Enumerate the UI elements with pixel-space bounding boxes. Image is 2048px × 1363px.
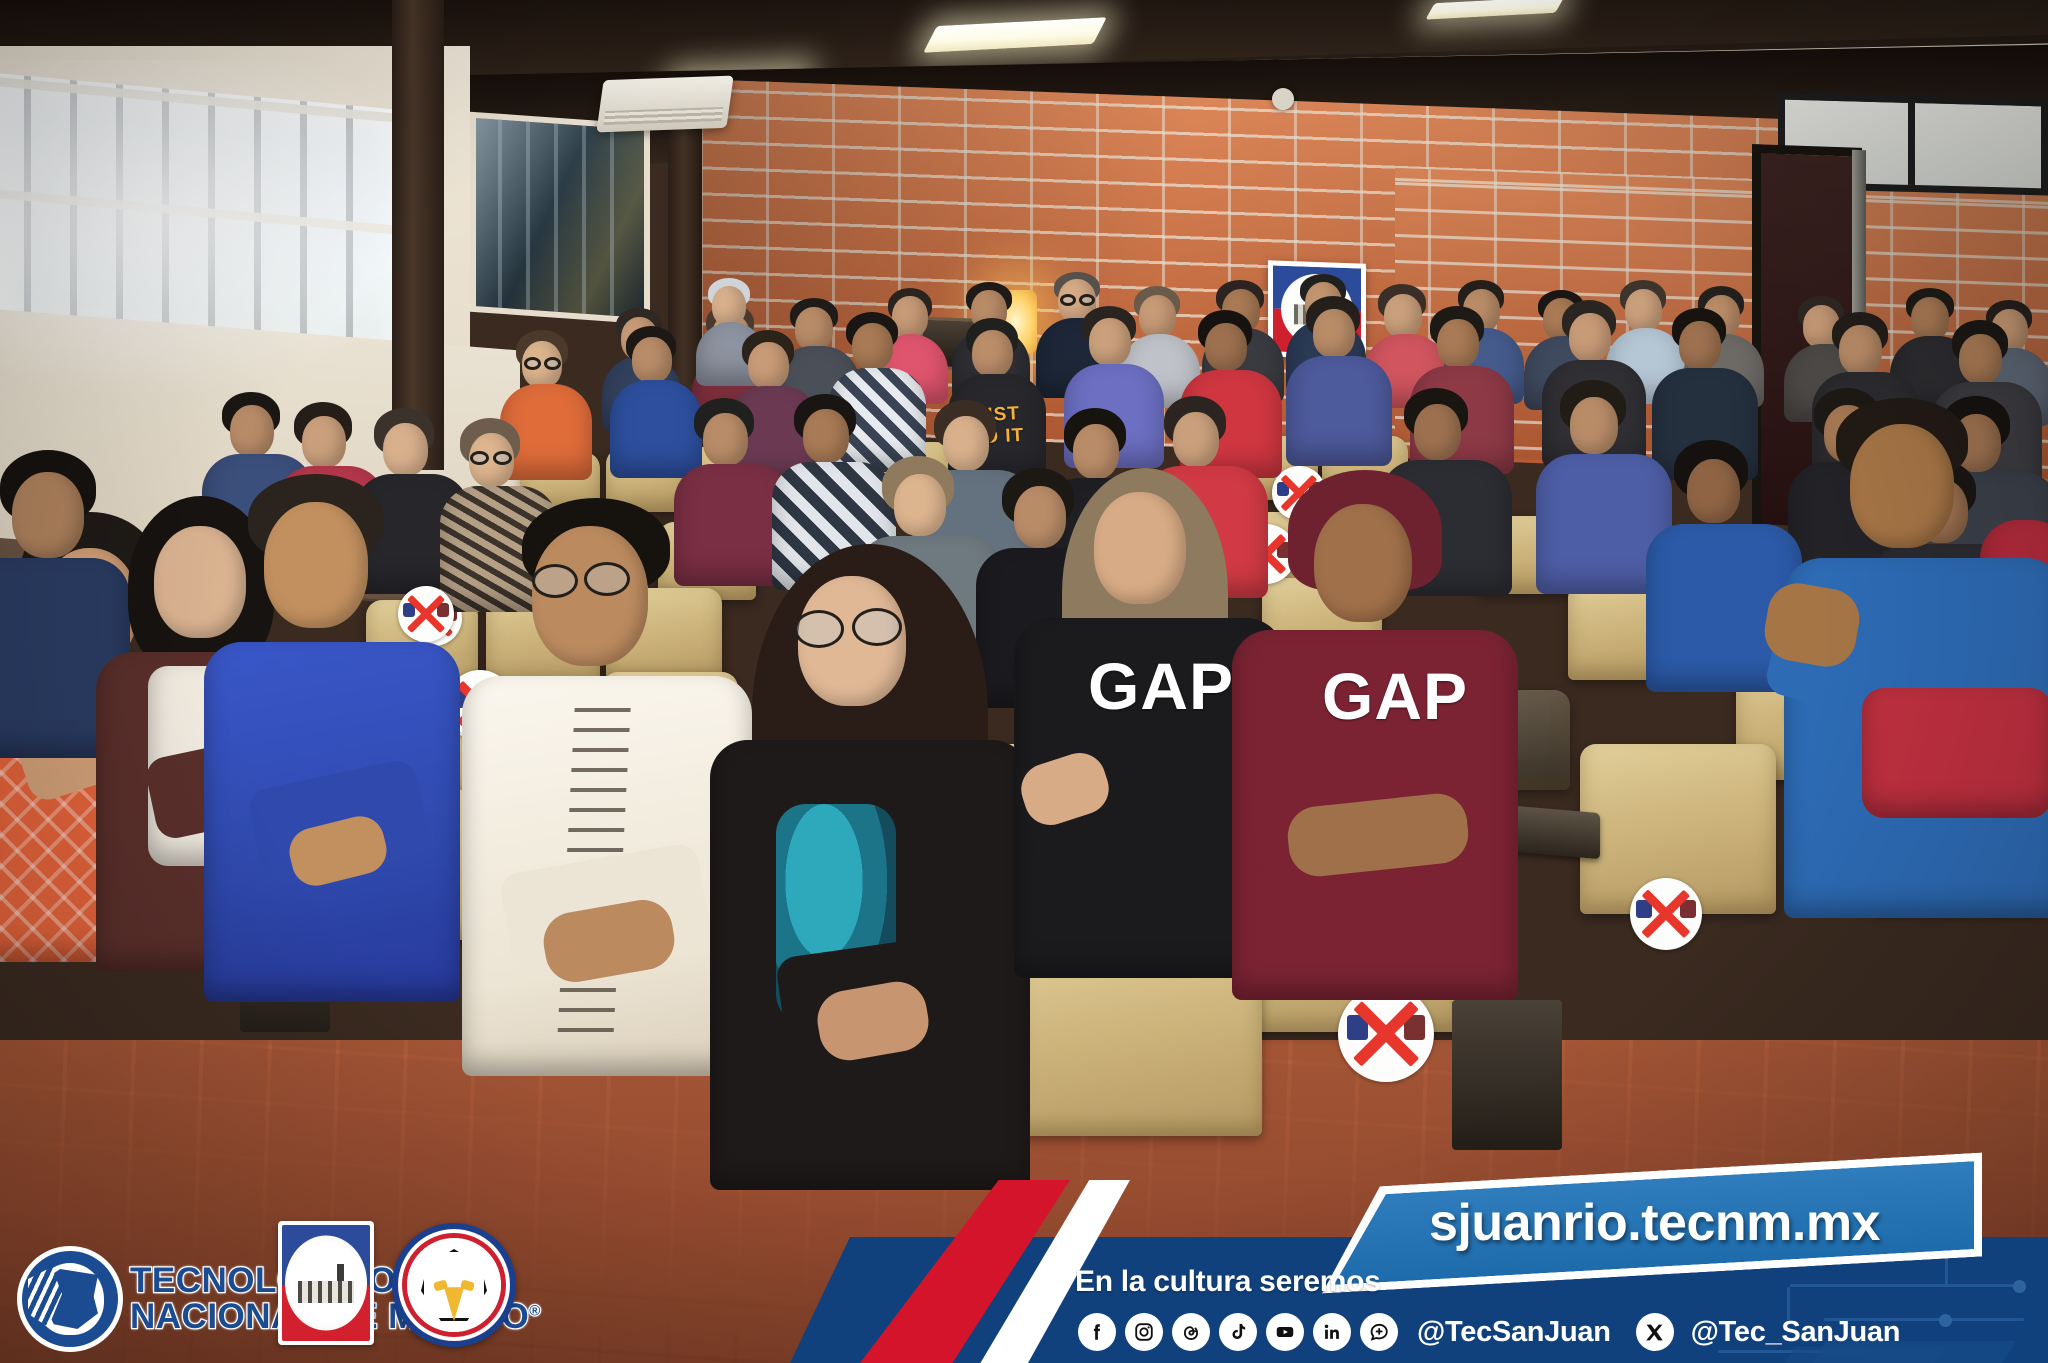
website-url[interactable]: sjuanrio.tecnm.mx bbox=[1429, 1193, 1880, 1253]
seat-unavailable-sticker bbox=[1630, 878, 1702, 950]
social-handle-x[interactable]: @Tec_SanJuan bbox=[1691, 1316, 1901, 1349]
structural-pillar bbox=[392, 0, 444, 470]
threads-icon[interactable] bbox=[1172, 1313, 1210, 1351]
linkedin-icon[interactable] bbox=[1313, 1313, 1351, 1351]
tiktok-icon[interactable] bbox=[1219, 1313, 1257, 1351]
ceiling-sensor bbox=[1272, 88, 1294, 110]
instagram-icon[interactable] bbox=[1125, 1313, 1163, 1351]
apparel-text: GAP bbox=[1322, 658, 1468, 734]
side-window bbox=[470, 112, 650, 325]
seat-unavailable-sticker bbox=[1338, 986, 1434, 1082]
seat-unavailable-sticker bbox=[398, 586, 454, 642]
branding-banner: sjuanrio.tecnm.mx En la cultura seremos bbox=[0, 1180, 2048, 1363]
eyeglasses bbox=[794, 610, 844, 648]
auditorium-photo: JUST DO IT bbox=[0, 0, 2048, 1363]
chat-plus-icon[interactable] bbox=[1360, 1313, 1398, 1351]
banner-tagline: En la cultura seremos bbox=[1075, 1265, 1381, 1299]
eyeglasses bbox=[584, 562, 630, 596]
apparel-text: GAP bbox=[1088, 648, 1234, 724]
eyeglasses bbox=[852, 608, 902, 646]
screenshot-root: JUST DO IT bbox=[0, 0, 2048, 1363]
registered-mark: ® bbox=[529, 1302, 541, 1319]
x-twitter-icon[interactable] bbox=[1636, 1313, 1674, 1351]
air-conditioner-unit bbox=[596, 76, 733, 133]
social-handle-primary[interactable]: @TecSanJuan bbox=[1417, 1316, 1611, 1349]
itsjr-flag-logo bbox=[278, 1221, 374, 1345]
eyeglasses bbox=[532, 564, 578, 598]
itsjr-eagle-seal-logo bbox=[392, 1223, 516, 1347]
facebook-icon[interactable] bbox=[1078, 1313, 1116, 1351]
aztec-head-gear-icon bbox=[22, 1251, 118, 1347]
youtube-icon[interactable] bbox=[1266, 1313, 1304, 1351]
social-media-row: @TecSanJuan @Tec_SanJuan bbox=[1078, 1313, 1900, 1351]
